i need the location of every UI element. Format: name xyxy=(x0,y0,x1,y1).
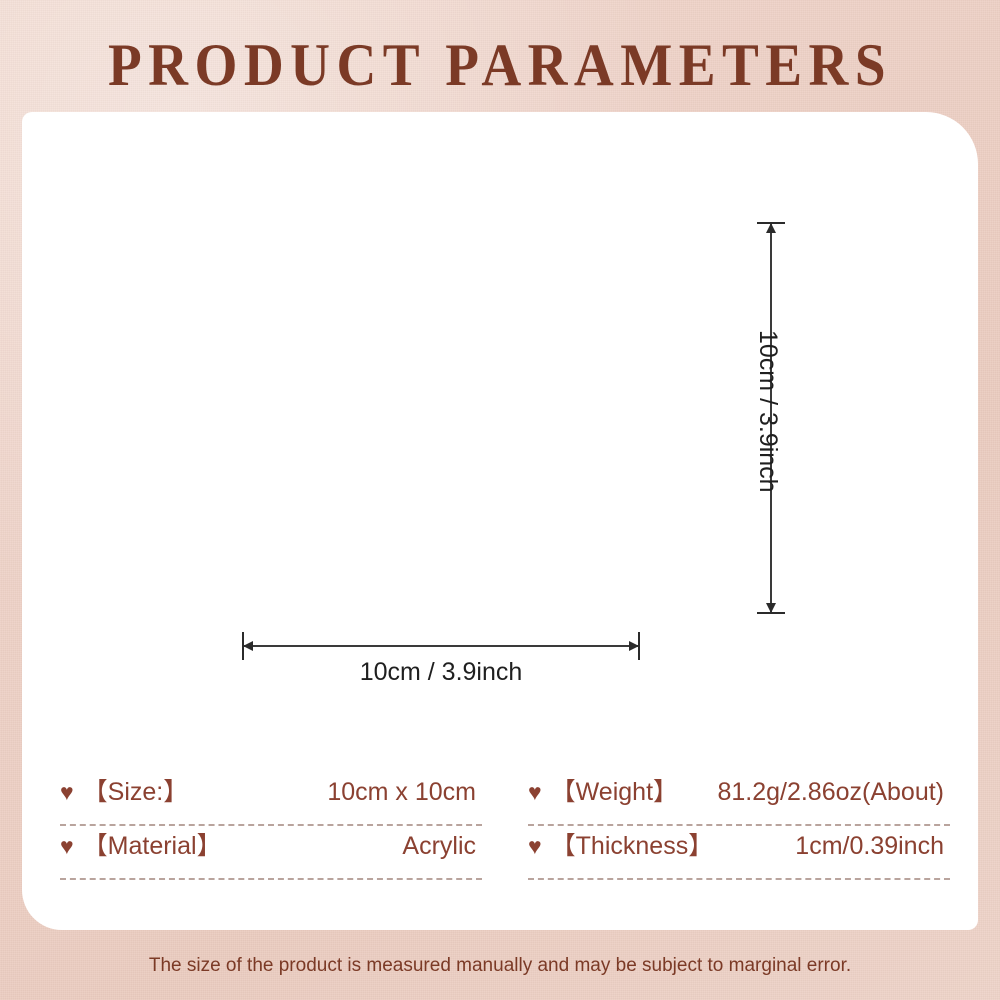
spec-value-size: 10cm x 10cm xyxy=(327,778,482,807)
spec-label-size: 【Size:】 xyxy=(83,772,189,808)
spec-label-material: 【Material】 xyxy=(83,826,222,862)
heart-bullet-icon: ♥ xyxy=(528,781,542,804)
width-dimension-line xyxy=(242,645,640,647)
spec-divider xyxy=(60,878,482,880)
spec-divider xyxy=(528,878,950,880)
width-dimension-label: 10cm / 3.9inch xyxy=(242,658,640,687)
heart-bullet-icon: ♥ xyxy=(60,835,74,858)
arrow-left-icon xyxy=(243,641,253,651)
heart-bullet-icon: ♥ xyxy=(528,835,542,858)
disclaimer-note: The size of the product is measured manu… xyxy=(0,955,1000,977)
spec-value-weight: 81.2g/2.86oz(About) xyxy=(717,778,950,807)
spec-column-left: ♥ 【Size:】 10cm x 10cm ♥ 【Material】 Acryl… xyxy=(60,772,482,880)
spec-row-weight: ♥ 【Weight】 81.2g/2.86oz(About) xyxy=(528,772,950,824)
spec-column-right: ♥ 【Weight】 81.2g/2.86oz(About) ♥ 【Thickn… xyxy=(528,772,950,880)
spec-row-size: ♥ 【Size:】 10cm x 10cm xyxy=(60,772,482,824)
spec-label-weight: 【Weight】 xyxy=(551,772,678,808)
heart-bullet-icon: ♥ xyxy=(60,781,74,804)
arrow-up-icon xyxy=(766,223,776,233)
spec-value-thickness: 1cm/0.39inch xyxy=(795,832,950,861)
spec-row-thickness: ♥ 【Thickness】 1cm/0.39inch xyxy=(528,826,950,878)
arrow-down-icon xyxy=(766,603,776,613)
spec-label-thickness: 【Thickness】 xyxy=(551,826,714,862)
spec-row-material: ♥ 【Material】 Acrylic xyxy=(60,826,482,878)
arrow-right-icon xyxy=(629,641,639,651)
height-dimension-label: 10cm / 3.9inch xyxy=(753,330,782,493)
page-title: PRODUCT PARAMETERS xyxy=(40,34,960,96)
spec-table: ♥ 【Size:】 10cm x 10cm ♥ 【Material】 Acryl… xyxy=(60,772,950,880)
spec-value-material: Acrylic xyxy=(402,832,482,861)
